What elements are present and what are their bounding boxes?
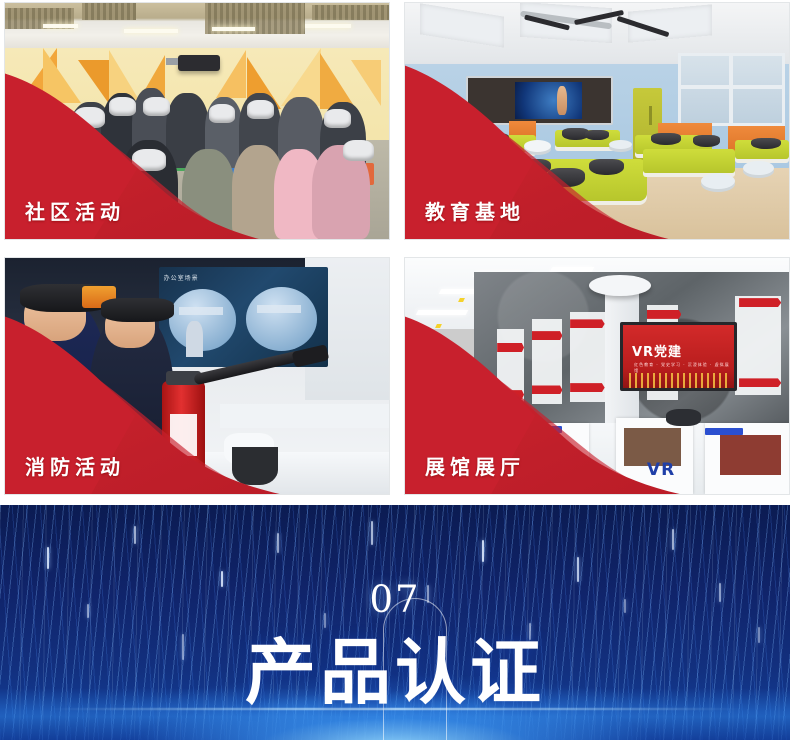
- scene-gallery: 社区活动: [0, 0, 790, 505]
- gallery-card-education[interactable]: 教育基地: [404, 2, 790, 240]
- scene-screen-caption: 办公室场景: [164, 273, 199, 282]
- product-page: 社区活动: [0, 0, 790, 740]
- exhibition-screen-title: VR党建: [632, 341, 682, 360]
- exhibition-screen: VR党建 红色教育 · 党史学习 · 沉浸体验 · 虚拟展馆: [620, 322, 737, 392]
- photo-community-activity: [5, 3, 389, 239]
- photo-exhibition-hall: VR党建 红色教育 · 党史学习 · 沉浸体验 · 虚拟展馆 VR: [405, 258, 789, 494]
- gallery-card-exhibition-hall[interactable]: VR党建 红色教育 · 党史学习 · 沉浸体验 · 虚拟展馆 VR: [404, 257, 790, 495]
- gallery-card-community[interactable]: 社区活动: [4, 2, 390, 240]
- photo-education-base: [405, 3, 789, 239]
- photo-fire-drill: 办公室场景: [5, 258, 389, 494]
- section-title: 产品认证: [0, 637, 790, 708]
- exhibition-floor-text: VR: [647, 460, 675, 480]
- exhibition-screen-subtitle: 红色教育 · 党史学习 · 沉浸体验 · 虚拟展馆: [634, 362, 734, 374]
- gallery-card-fire-safety[interactable]: 办公室场景: [4, 257, 390, 495]
- section-number: 07: [0, 578, 790, 621]
